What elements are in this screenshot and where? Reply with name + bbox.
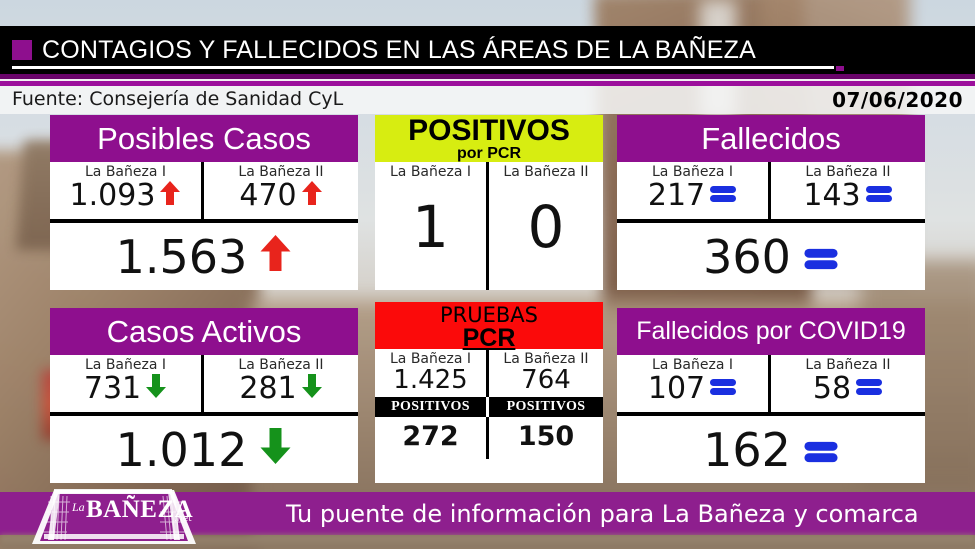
area-value: 58	[813, 374, 851, 404]
equals-icon	[709, 374, 737, 404]
positives-cell-2: 150	[489, 417, 603, 459]
panel-header-casos-activos: Casos Activos	[50, 308, 358, 355]
panel-header-positivos-pcr: POSITIVOS por PCR	[375, 115, 603, 162]
area-value-row: 107	[617, 373, 768, 407]
area-cell-2: La Bañeza II 58	[771, 355, 925, 412]
positives-cell-1: 272	[375, 417, 489, 459]
panel-area-row: La Bañeza I 107 La Bañeza II 58	[617, 355, 925, 412]
panel-area-row: La Bañeza I 731 La Bañeza II 281	[50, 355, 358, 412]
panel-title: POSITIVOS	[375, 116, 603, 146]
area-cell-1: La Bañeza I 1.093	[50, 162, 204, 219]
area-value-row: 143	[771, 180, 925, 214]
area-cell-1: La Bañeza I 1	[375, 162, 489, 290]
total-value: 162	[703, 423, 791, 477]
arrow-down-icon	[145, 373, 167, 405]
area-value: 107	[648, 374, 705, 404]
panel-total-row: 162	[617, 412, 925, 483]
panel-area-row: La Bañeza I 217 La Bañeza II 143	[617, 162, 925, 219]
area-cell-1: La Bañeza I 731	[50, 355, 204, 412]
panel-title: Fallecidos	[701, 121, 841, 156]
panel-pruebas-pcr: PRUEBAS PCR La Bañeza I 1.425 La Bañeza …	[375, 302, 603, 483]
panel-subtitle: PCR	[375, 326, 603, 350]
total-value: 1.012	[116, 423, 248, 477]
panel-header-fallecidos: Fallecidos	[617, 115, 925, 162]
logo-suffix: .net	[174, 514, 192, 524]
area-value-row: 217	[617, 180, 768, 214]
area-value: 470	[239, 181, 296, 211]
area-value: 1	[375, 180, 486, 256]
panel-fallecidos-covid19: Fallecidos por COVID19 La Bañeza I 107 L…	[617, 308, 925, 483]
arrow-up-icon	[259, 230, 292, 284]
panel-casos-activos: Casos Activos La Bañeza I 731 La Bañeza …	[50, 308, 358, 483]
equals-icon	[865, 181, 893, 211]
area-value-row: 58	[771, 373, 925, 407]
labaneza-logo[interactable]: La BAÑEZA .net	[24, 484, 202, 546]
arrow-down-icon	[301, 373, 323, 405]
arrow-up-icon	[301, 180, 323, 212]
panel-posibles-casos: Posibles Casos La Bañeza I 1.093 La Bañe…	[50, 115, 358, 290]
area-value-row: 281	[204, 373, 358, 407]
panel-area-row: La Bañeza I 1.093 La Bañeza II 470	[50, 162, 358, 219]
panel-header-posibles-casos: Posibles Casos	[50, 115, 358, 162]
panel-header-fallecidos-covid19: Fallecidos por COVID19	[617, 308, 925, 355]
panel-total-row: 360	[617, 219, 925, 290]
panel-fallecidos: Fallecidos La Bañeza I 217 La Bañeza II …	[617, 115, 925, 290]
equals-icon	[709, 181, 737, 211]
equals-icon	[803, 423, 839, 477]
positives-value: 272	[375, 417, 486, 452]
area-value: 1.425	[375, 367, 486, 393]
panel-total-row: 1.563	[50, 219, 358, 290]
area-cell-2: La Bañeza II 143	[771, 162, 925, 219]
area-value: 764	[489, 367, 603, 393]
panel-subtitle: por PCR	[375, 146, 603, 162]
panel-title: Fallecidos por COVID19	[636, 317, 906, 345]
area-value-row: 731	[50, 373, 201, 407]
positives-label-2: POSITIVOS	[489, 397, 603, 417]
positives-label-1: POSITIVOS	[375, 397, 489, 417]
area-cell-2: La Bañeza II 764	[489, 349, 603, 397]
area-value-row: 470	[204, 180, 358, 214]
area-cell-2: La Bañeza II 0	[489, 162, 603, 290]
panel-positivos-pcr: POSITIVOS por PCR La Bañeza I 1 La Bañez…	[375, 115, 603, 290]
panel-header-pruebas-pcr: PRUEBAS PCR	[375, 302, 603, 349]
area-cell-2: La Bañeza II 281	[204, 355, 358, 412]
area-cell-1: La Bañeza I 1.425	[375, 349, 489, 397]
panel-area-row: La Bañeza I 1.425 La Bañeza II 764	[375, 349, 603, 397]
area-cell-1: La Bañeza I 217	[617, 162, 771, 219]
equals-icon	[803, 230, 839, 284]
total-value: 1.563	[116, 230, 248, 284]
area-label: La Bañeza I	[375, 162, 486, 180]
panel-area-row: La Bañeza I 1 La Bañeza II 0	[375, 162, 603, 290]
positives-value: 150	[489, 417, 603, 452]
logo-prefix: La	[72, 500, 85, 515]
square-bullet-icon	[12, 40, 32, 60]
panel-title: PRUEBAS	[375, 304, 603, 326]
area-value: 0	[489, 180, 603, 256]
panel-title: Posibles Casos	[97, 121, 311, 156]
arrow-down-icon	[259, 423, 292, 477]
panel-title: Casos Activos	[107, 314, 302, 349]
area-value: 731	[84, 374, 141, 404]
area-value: 281	[239, 374, 296, 404]
page-title: CONTAGIOS Y FALLECIDOS EN LAS ÁREAS DE L…	[42, 38, 756, 63]
area-value: 143	[803, 181, 860, 211]
arrow-up-icon	[159, 180, 181, 212]
panel-total-row: 1.012	[50, 412, 358, 483]
source-label: Fuente: Consejería de Sanidad CyL	[12, 88, 343, 110]
title-underline	[12, 66, 834, 69]
area-cell-1: La Bañeza I 107	[617, 355, 771, 412]
footer-tagline: Tu puente de información para La Bañeza …	[286, 500, 919, 528]
title-underline-dot	[836, 66, 844, 71]
area-value: 217	[648, 181, 705, 211]
area-value-row: 1.093	[50, 180, 201, 214]
equals-icon	[855, 374, 883, 404]
total-value: 360	[703, 230, 791, 284]
area-value: 1.093	[70, 181, 156, 211]
infographic-stage: CONTAGIOS Y FALLECIDOS EN LAS ÁREAS DE L…	[0, 0, 975, 549]
positives-label-row: POSITIVOS POSITIVOS	[375, 397, 603, 417]
date-label: 07/06/2020	[832, 88, 963, 112]
area-cell-2: La Bañeza II 470	[204, 162, 358, 219]
positives-value-row: 272 150	[375, 417, 603, 459]
area-label: La Bañeza II	[489, 162, 603, 180]
